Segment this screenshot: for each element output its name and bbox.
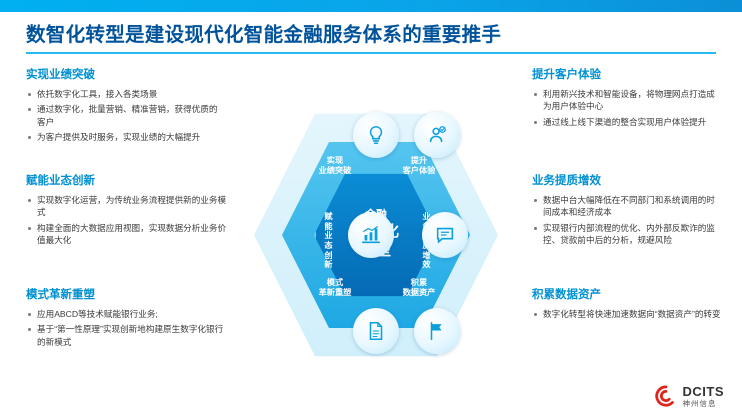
lightbulb-icon bbox=[365, 124, 387, 146]
chart-growth-icon bbox=[360, 224, 382, 246]
block-list: 实现数字化运营，为传统业务流程提供新的业务模式 构建全面的大数据应用视图，实现数… bbox=[26, 194, 231, 247]
sector-label-left: 赋能业态创新 bbox=[322, 212, 335, 270]
top-accent-bar bbox=[0, 0, 742, 12]
bubble-top-left[interactable] bbox=[353, 112, 399, 158]
list-item: 应用ABCD等技术赋能银行业务; bbox=[26, 308, 231, 320]
title-divider bbox=[26, 52, 716, 54]
block-heading: 实现业绩突破 bbox=[26, 66, 226, 82]
bubble-bottom-left[interactable] bbox=[353, 308, 399, 354]
sector-label-top-left: 实现业绩突破 bbox=[314, 156, 356, 176]
text-block-left-1: 实现业绩突破 依托数字化工具，接入各类场景 通过数字化，批量营销、精准营销，获得… bbox=[26, 66, 226, 147]
list-item: 基于“第一性原理”实现创新地构建原生数字化银行的新模式 bbox=[26, 323, 231, 348]
document-icon bbox=[365, 320, 387, 342]
flag-icon bbox=[426, 320, 448, 342]
sector-label-top-right: 提升客户体验 bbox=[398, 156, 440, 176]
speech-bubble-icon bbox=[434, 224, 456, 246]
logo-wordmark: DCITS 神州信息 bbox=[683, 385, 725, 408]
list-item: 通过线上线下渠道的整合实现用户体验提升 bbox=[532, 116, 722, 128]
text-block-right-1: 提升客户体验 利用新兴技术和智能设备，将物理网点打造成为用户体验中心 通过线上线… bbox=[532, 66, 722, 131]
hexagon-diagram: 金融 数智化 转型 实现业绩突破 提升客户体验 赋能业态创新 业务提质增效 模式… bbox=[236, 100, 516, 370]
logo-text-cn: 神州信息 bbox=[683, 400, 725, 408]
list-item: 构建全面的大数据应用视图，实现数据分析业务价值最大化 bbox=[26, 222, 231, 247]
block-list: 应用ABCD等技术赋能银行业务; 基于“第一性原理”实现创新地构建原生数字化银行… bbox=[26, 308, 231, 348]
block-heading: 模式革新重塑 bbox=[26, 286, 231, 302]
block-heading: 赋能业态创新 bbox=[26, 172, 231, 188]
block-heading: 提升客户体验 bbox=[532, 66, 722, 82]
footer-logo: DCITS 神州信息 bbox=[655, 385, 725, 408]
list-item: 实现银行内部流程的优化、内外部反欺诈的监控、贷款前中后的分析，规避风险 bbox=[532, 222, 722, 247]
list-item: 依托数字化工具，接入各类场景 bbox=[26, 88, 226, 100]
bubble-left[interactable] bbox=[348, 212, 394, 258]
logo-text-en: DCITS bbox=[683, 385, 725, 398]
bubble-right[interactable] bbox=[422, 212, 468, 258]
block-heading: 积累数据资产 bbox=[532, 286, 722, 302]
bubble-bottom-right[interactable] bbox=[414, 308, 460, 354]
text-block-right-2: 业务提质增效 数据中台大幅降低在不同部门和系统调用的时间成本和经济成本 实现银行… bbox=[532, 172, 722, 250]
user-badge-icon bbox=[426, 124, 448, 146]
list-item: 通过数字化，批量营销、精准营销，获得优质的客户 bbox=[26, 103, 226, 128]
list-item: 数字化转型将快速加速数据向“数据资产”的转变 bbox=[532, 308, 722, 320]
block-list: 依托数字化工具，接入各类场景 通过数字化，批量营销、精准营销，获得优质的客户 为… bbox=[26, 88, 226, 144]
sector-label-bottom-right: 积累数据资产 bbox=[398, 278, 440, 298]
block-list: 利用新兴技术和智能设备，将物理网点打造成为用户体验中心 通过线上线下渠道的整合实… bbox=[532, 88, 722, 128]
text-block-right-3: 积累数据资产 数字化转型将快速加速数据向“数据资产”的转变 bbox=[532, 286, 722, 323]
block-list: 数字化转型将快速加速数据向“数据资产”的转变 bbox=[532, 308, 722, 320]
block-heading: 业务提质增效 bbox=[532, 172, 722, 188]
bubble-top-right[interactable] bbox=[414, 112, 460, 158]
text-block-left-3: 模式革新重塑 应用ABCD等技术赋能银行业务; 基于“第一性原理”实现创新地构建… bbox=[26, 286, 231, 351]
dcits-mark-icon bbox=[655, 385, 677, 407]
list-item: 实现数字化运营，为传统业务流程提供新的业务模式 bbox=[26, 194, 231, 219]
page-title: 数智化转型是建设现代化智能金融服务体系的重要推手 bbox=[26, 18, 501, 47]
list-item: 利用新兴技术和智能设备，将物理网点打造成为用户体验中心 bbox=[532, 88, 722, 113]
sector-label-bottom-left: 模式革新重塑 bbox=[314, 278, 356, 298]
list-item: 为客户提供及时服务，实现业绩的大幅提升 bbox=[26, 131, 226, 143]
text-block-left-2: 赋能业态创新 实现数字化运营，为传统业务流程提供新的业务模式 构建全面的大数据应… bbox=[26, 172, 231, 250]
list-item: 数据中台大幅降低在不同部门和系统调用的时间成本和经济成本 bbox=[532, 194, 722, 219]
block-list: 数据中台大幅降低在不同部门和系统调用的时间成本和经济成本 实现银行内部流程的优化… bbox=[532, 194, 722, 247]
